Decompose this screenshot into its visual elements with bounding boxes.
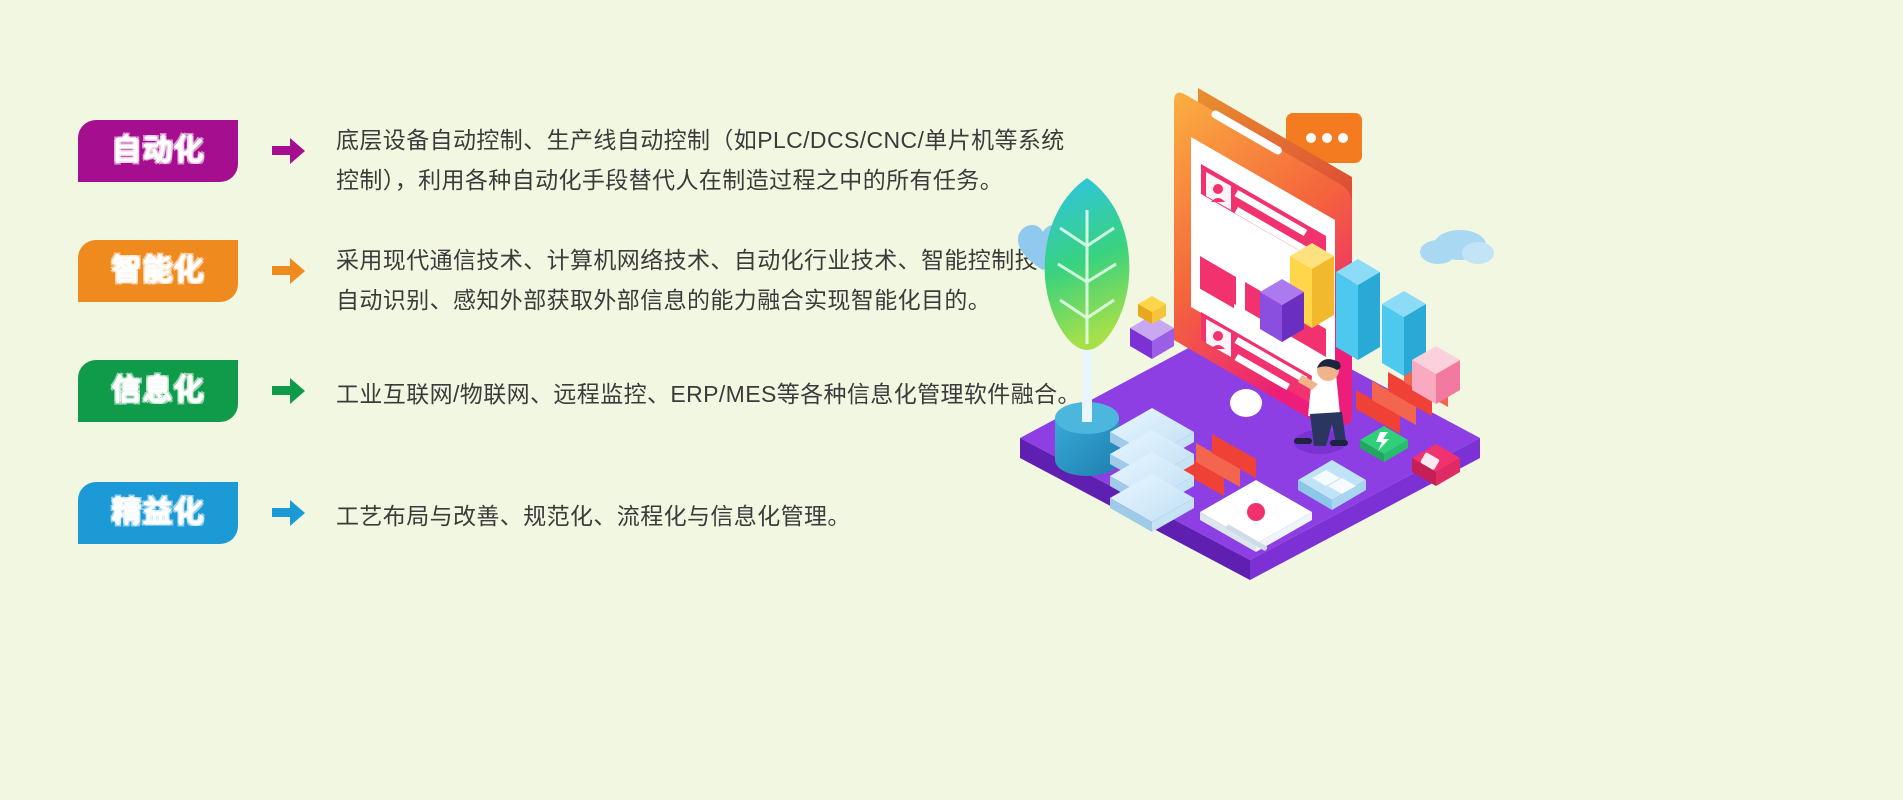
concept-row-automation: 自动化 底层设备自动控制、生产线自动控制（如PLC/DCS/CNC/单片机等系统… <box>0 120 1065 200</box>
concept-description: 工艺布局与改善、规范化、流程化与信息化管理。 <box>336 482 851 536</box>
badge-informatization: 信息化 <box>78 360 238 422</box>
isometric-smart-manufacturing-illustration <box>960 60 1520 580</box>
concept-row-intelligence: 智能化 采用现代通信技术、计算机网络技术、自动化行业技术、智能控制技术、 自动识… <box>0 240 1085 320</box>
badge-label: 智能化 <box>112 256 205 286</box>
right-arrow-icon <box>272 360 306 422</box>
badge-automation: 自动化 <box>78 120 238 182</box>
right-arrow-icon <box>272 240 306 302</box>
cloud-icon <box>1420 230 1494 264</box>
badge-label: 精益化 <box>112 498 205 528</box>
concept-description: 底层设备自动控制、生产线自动控制（如PLC/DCS/CNC/单片机等系统 控制）… <box>336 120 1065 200</box>
cube-group <box>1130 296 1174 359</box>
right-arrow-icon <box>272 120 306 182</box>
badge-intelligence: 智能化 <box>78 240 238 302</box>
concept-row-informatization: 信息化 工业互联网/物联网、远程监控、ERP/MES等各种信息化管理软件融合。 <box>0 360 1081 422</box>
right-arrow-icon <box>272 482 306 544</box>
badge-label: 自动化 <box>112 136 205 166</box>
infographic-root: 自动化 底层设备自动控制、生产线自动控制（如PLC/DCS/CNC/单片机等系统… <box>0 0 1903 800</box>
concept-list: 自动化 底层设备自动控制、生产线自动控制（如PLC/DCS/CNC/单片机等系统… <box>0 0 1100 800</box>
data-stack <box>1110 408 1194 532</box>
badge-label: 信息化 <box>112 376 205 406</box>
badge-lean: 精益化 <box>78 482 238 544</box>
concept-row-lean: 精益化 工艺布局与改善、规范化、流程化与信息化管理。 <box>0 482 851 544</box>
